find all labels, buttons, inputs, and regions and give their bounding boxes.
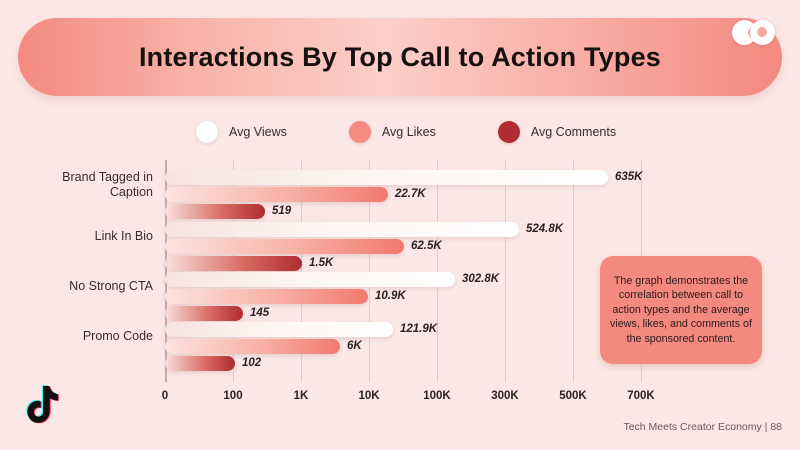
x-axis-tick-label: 500K bbox=[559, 390, 587, 402]
bar-views[interactable] bbox=[165, 222, 519, 237]
bar-value-label: 22.7K bbox=[395, 188, 426, 200]
bar-value-label: 1.5K bbox=[309, 257, 333, 269]
bar-likes[interactable] bbox=[165, 187, 388, 202]
bar-comments[interactable] bbox=[165, 356, 235, 371]
bar-likes[interactable] bbox=[165, 339, 340, 354]
bar-value-label: 10.9K bbox=[375, 290, 406, 302]
category-label: Link In Bio bbox=[35, 229, 153, 244]
bar-value-label: 145 bbox=[250, 307, 269, 319]
bar-value-label: 6K bbox=[347, 340, 362, 352]
x-axis-tick-label: 100K bbox=[423, 390, 451, 402]
annotation-card: The graph demonstrates the correlation b… bbox=[600, 256, 762, 364]
chart-plot-area: 01001K10K100K300K500K700K Brand Tagged i… bbox=[0, 0, 800, 450]
bar-views[interactable] bbox=[165, 322, 393, 337]
x-axis-tick-label: 100 bbox=[223, 390, 242, 402]
annotation-text: The graph demonstrates the correlation b… bbox=[609, 274, 753, 346]
bar-value-label: 302.8K bbox=[462, 273, 499, 285]
bar-comments[interactable] bbox=[165, 256, 302, 271]
x-axis-tick-label: 300K bbox=[491, 390, 519, 402]
x-axis-tick-label: 1K bbox=[294, 390, 309, 402]
x-axis-tick-label: 700K bbox=[627, 390, 655, 402]
category-label: Promo Code bbox=[35, 329, 153, 344]
bar-comments[interactable] bbox=[165, 306, 243, 321]
bar-comments[interactable] bbox=[165, 204, 265, 219]
bar-views[interactable] bbox=[165, 272, 455, 287]
gridline bbox=[505, 160, 506, 382]
category-label: Brand Tagged in Caption bbox=[35, 170, 153, 200]
bar-likes[interactable] bbox=[165, 289, 368, 304]
bar-value-label: 635K bbox=[615, 171, 643, 183]
category-label: No Strong CTA bbox=[35, 279, 153, 294]
footer-credit: Tech Meets Creator Economy | 88 bbox=[623, 421, 782, 433]
bar-value-label: 519 bbox=[272, 205, 291, 217]
bar-value-label: 62.5K bbox=[411, 240, 442, 252]
x-axis-tick-label: 0 bbox=[162, 390, 168, 402]
bar-likes[interactable] bbox=[165, 239, 404, 254]
tiktok-logo bbox=[20, 382, 62, 430]
bar-value-label: 524.8K bbox=[526, 223, 563, 235]
bar-value-label: 121.9K bbox=[400, 323, 437, 335]
bar-value-label: 102 bbox=[242, 357, 261, 369]
x-axis-tick-label: 10K bbox=[358, 390, 379, 402]
gridline bbox=[437, 160, 438, 382]
bar-views[interactable] bbox=[165, 170, 608, 185]
gridline bbox=[573, 160, 574, 382]
